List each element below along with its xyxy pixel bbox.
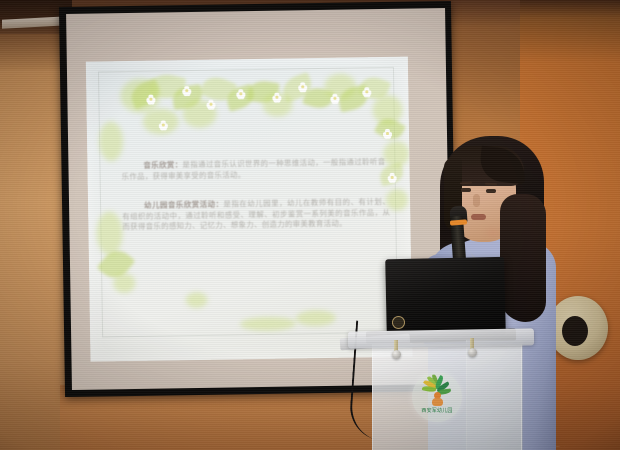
slide-paragraph-1: 音乐欣赏：是指通过音乐认识世界的一种思维活动，一般指通过聆听音乐作品，获得审美享… <box>121 157 385 182</box>
hair-volume-right <box>500 194 546 322</box>
slide-paragraph-1-lead: 音乐欣赏： <box>143 160 182 170</box>
flower-icon <box>298 82 307 91</box>
flower-icon <box>383 129 392 138</box>
podium-standoff <box>392 350 401 359</box>
logo-figure-body <box>432 398 443 406</box>
podium-kindergarten-logo: 西安军幼儿园 <box>412 372 462 422</box>
flower-icon <box>272 93 281 102</box>
logo-text: 西安军幼儿园 <box>418 407 456 414</box>
podium-top-surface <box>348 328 534 348</box>
photo-scene: 音乐欣赏：是指通过音乐认识世界的一种思维活动，一般指通过聆听音乐作品，获得审美享… <box>0 0 620 450</box>
flower-icon <box>362 87 371 96</box>
round-object-hole <box>562 316 588 346</box>
leaf-blob <box>99 121 124 161</box>
flower-icon <box>206 100 215 109</box>
flower-icon <box>146 95 155 104</box>
cheek-shading <box>486 228 500 238</box>
nose <box>473 194 480 207</box>
flower-icon <box>236 89 245 98</box>
flower-icon <box>388 173 397 182</box>
flower-icon <box>182 86 191 95</box>
leaf-blob <box>96 211 123 255</box>
mouth <box>471 214 486 220</box>
podium-standoff <box>468 348 477 357</box>
projected-slide: 音乐欣赏：是指通过音乐认识世界的一种思维活动，一般指通过聆听音乐作品，获得审美享… <box>86 57 413 362</box>
eye-left <box>461 188 471 192</box>
slide-paragraph-2: 幼儿园音乐欣赏活动：是指在幼儿园里，幼儿在教师有目的、有计划、有组织的活动中，通… <box>122 197 390 233</box>
flower-icon <box>159 120 168 129</box>
flower-icon <box>330 94 339 103</box>
slide-paragraph-2-lead: 幼儿园音乐欣赏活动： <box>144 200 224 210</box>
logo-child-figure <box>430 392 445 407</box>
eye-right <box>486 189 496 193</box>
